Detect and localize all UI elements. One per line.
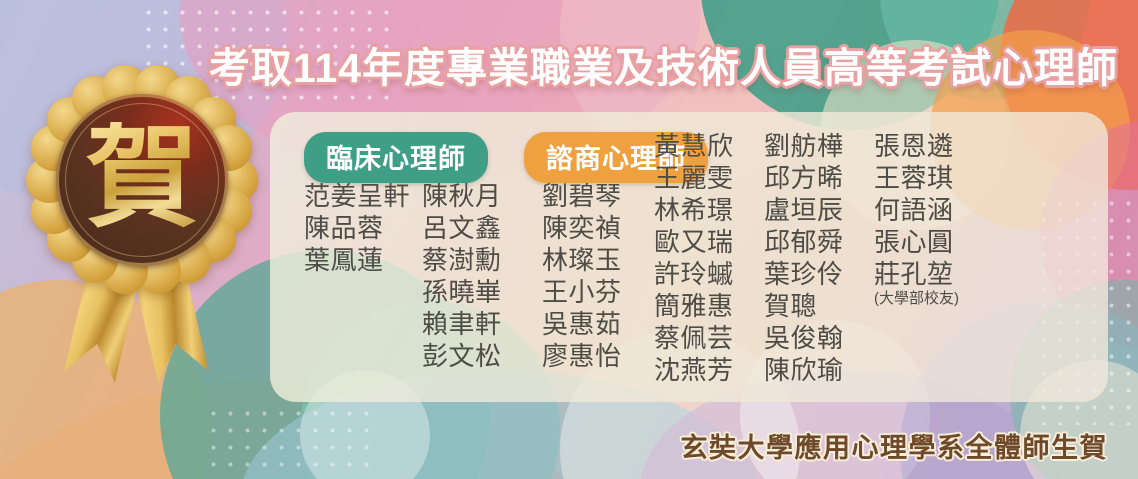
name-entry: 劉碧琴 — [542, 180, 654, 212]
medal-character: 賀 — [86, 122, 198, 234]
name-entry: 盧垣辰 — [764, 194, 874, 226]
name-entry: 呂文鑫 — [422, 212, 542, 244]
name-column-1: 范姜呈軒陳品蓉葉鳳蓮 — [304, 130, 422, 276]
name-entry: 陳奕禎 — [542, 212, 654, 244]
name-entry: 彭文松 — [422, 340, 542, 372]
name-entry: 孫曉崋 — [422, 276, 542, 308]
name-entry: 許玲䗩 — [654, 258, 764, 290]
name-entry: 陳秋月 — [422, 180, 542, 212]
name-entry: 廖惠怡 — [542, 340, 654, 372]
name-entry: 賀聰 — [764, 290, 874, 322]
name-entry: 賴聿軒 — [422, 308, 542, 340]
congratulations-poster: 考取114年度專業職業及技術人員高等考試心理師 賀 臨床心理師 諮商心理師 范姜… — [0, 0, 1138, 479]
name-columns: 范姜呈軒陳品蓉葉鳳蓮陳秋月呂文鑫蔡澍勳孫曉崋賴聿軒彭文松劉碧琴陳奕禎林璨玉王小芬… — [304, 130, 984, 386]
page-title: 考取114年度專業職業及技術人員高等考試心理師 — [168, 34, 1118, 94]
name-entry: 蔡佩芸 — [654, 322, 764, 354]
name-entry: 吳俊翰 — [764, 322, 874, 354]
name-entry: 簡雅惠 — [654, 290, 764, 322]
name-entry: 何語涵 — [874, 194, 984, 226]
name-entry: 陳欣瑜 — [764, 354, 874, 386]
name-entry: 莊孔堃 — [874, 258, 984, 290]
name-column-4: 黃慧欣王麗雯林希璟歐又瑞許玲䗩簡雅惠蔡佩芸沈燕芳 — [654, 130, 764, 386]
name-column-6: 張恩遴王蓉琪何語涵張心圓莊孔堃(大學部校友) — [874, 130, 984, 308]
name-entry: 張心圓 — [874, 226, 984, 258]
congratulations-medal-icon: 賀 — [18, 62, 268, 392]
name-entry: 范姜呈軒 — [304, 180, 422, 212]
name-entry: 王麗雯 — [654, 162, 764, 194]
dot-pattern-bottom-left — [205, 405, 380, 479]
name-entry: 張恩遴 — [874, 130, 984, 162]
name-column-2: 陳秋月呂文鑫蔡澍勳孫曉崋賴聿軒彭文松 — [422, 130, 542, 372]
names-panel: 臨床心理師 諮商心理師 范姜呈軒陳品蓉葉鳳蓮陳秋月呂文鑫蔡澍勳孫曉崋賴聿軒彭文松… — [270, 112, 1108, 402]
name-entry: 陳品蓉 — [304, 212, 422, 244]
medal-disc: 賀 — [56, 94, 228, 266]
name-entry: 劉舫樺 — [764, 130, 874, 162]
name-entry: 吳惠茹 — [542, 308, 654, 340]
name-entry: 王蓉琪 — [874, 162, 984, 194]
name-entry: 歐又瑞 — [654, 226, 764, 258]
name-entry: 邱郁舜 — [764, 226, 874, 258]
name-column-note: (大學部校友) — [874, 287, 984, 308]
name-column-5: 劉舫樺邱方晞盧垣辰邱郁舜葉珍伶賀聰吳俊翰陳欣瑜 — [764, 130, 874, 386]
name-entry: 王小芬 — [542, 276, 654, 308]
name-entry: 沈燕芳 — [654, 354, 764, 386]
name-entry: 邱方晞 — [764, 162, 874, 194]
footer-signature: 玄奘大學應用心理學系全體師生賀 — [681, 426, 1109, 465]
name-entry: 林璨玉 — [542, 244, 654, 276]
name-entry: 林希璟 — [654, 194, 764, 226]
name-entry: 葉珍伶 — [764, 258, 874, 290]
name-column-3: 劉碧琴陳奕禎林璨玉王小芬吳惠茹廖惠怡 — [542, 130, 654, 372]
name-entry: 黃慧欣 — [654, 130, 764, 162]
name-entry: 葉鳳蓮 — [304, 244, 422, 276]
name-entry: 蔡澍勳 — [422, 244, 542, 276]
